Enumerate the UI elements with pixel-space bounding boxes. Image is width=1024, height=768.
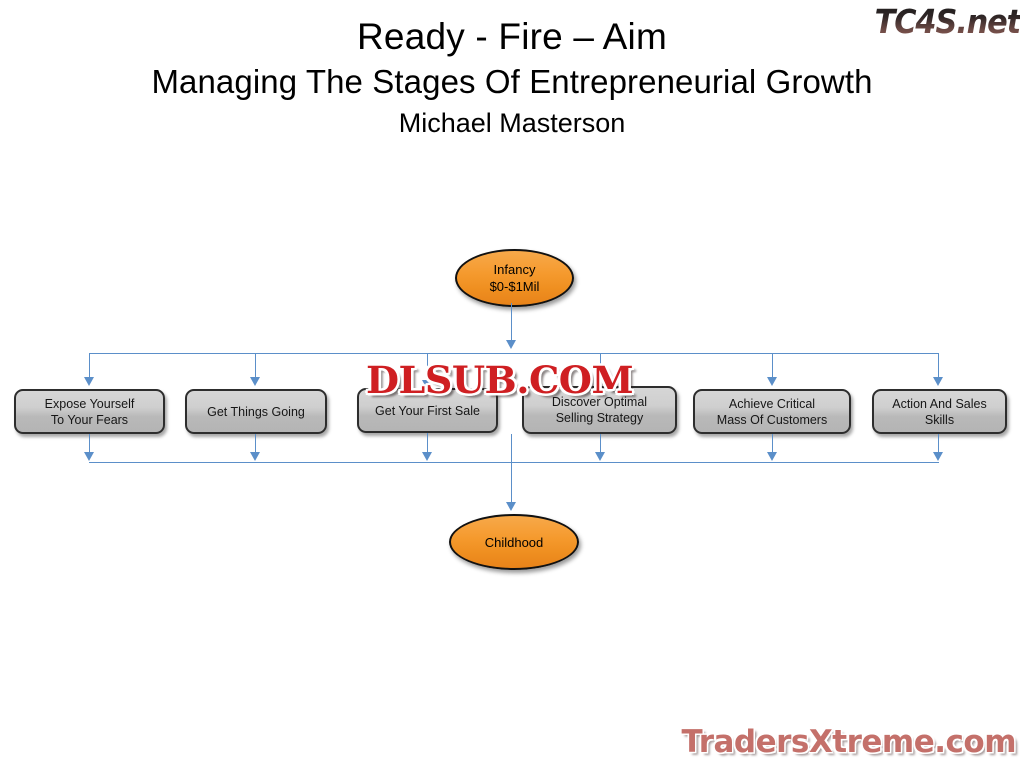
drop-stem-6: [938, 353, 939, 380]
connector-infancy-stem: [511, 303, 512, 345]
drop-arrow-4: [595, 377, 605, 386]
node-infancy-amount: $0-$1Mil: [490, 278, 540, 295]
step-box-2-line1: Get Things Going: [207, 404, 305, 420]
page-subtitle: Managing The Stages Of Entrepreneurial G…: [0, 60, 1024, 104]
collect-arrow-6: [933, 452, 943, 461]
drop-arrow-6: [933, 377, 943, 386]
collect-arrow-4: [595, 452, 605, 461]
step-box-6-line1: Action And Sales: [892, 396, 987, 412]
connector-childhood-arrowhead: [506, 502, 516, 511]
node-childhood[interactable]: Childhood: [449, 514, 579, 570]
step-box-1-line2: To Your Fears: [45, 412, 135, 428]
step-box-5[interactable]: Achieve Critical Mass Of Customers: [693, 389, 851, 434]
title-block: Ready - Fire – Aim Managing The Stages O…: [0, 14, 1024, 142]
collector-bar: [89, 462, 939, 463]
author-name: Michael Masterson: [0, 104, 1024, 142]
tc4s-logo: TC4S.net: [875, 2, 1020, 41]
connector-infancy-arrowhead: [506, 340, 516, 349]
step-box-6-line2: Skills: [892, 412, 987, 428]
step-box-5-line2: Mass Of Customers: [717, 412, 827, 428]
connector-childhood-stem: [511, 434, 512, 505]
step-box-1[interactable]: Expose Yourself To Your Fears: [14, 389, 165, 434]
slide-canvas: Ready - Fire – Aim Managing The Stages O…: [0, 0, 1024, 768]
drop-stem-1: [89, 353, 90, 380]
step-box-3[interactable]: Get Your First Sale: [357, 388, 498, 433]
drop-arrow-5: [767, 377, 777, 386]
node-infancy-label: Infancy: [494, 261, 536, 278]
step-box-2[interactable]: Get Things Going: [185, 389, 327, 434]
step-box-6[interactable]: Action And Sales Skills: [872, 389, 1007, 434]
page-title: Ready - Fire – Aim: [0, 14, 1024, 60]
node-childhood-label: Childhood: [485, 534, 544, 551]
step-box-4-line1: Discover Optimal: [552, 394, 647, 410]
drop-arrow-1: [84, 377, 94, 386]
drop-stem-2: [255, 353, 256, 380]
drop-stem-5: [772, 353, 773, 380]
drop-stem-3: [427, 353, 428, 383]
node-infancy[interactable]: Infancy $0-$1Mil: [455, 249, 574, 307]
drop-arrow-2: [250, 377, 260, 386]
collect-arrow-1: [84, 452, 94, 461]
step-box-3-line1: Get Your First Sale: [375, 403, 480, 419]
collect-arrow-2: [250, 452, 260, 461]
step-box-4[interactable]: Discover Optimal Selling Strategy: [522, 386, 677, 434]
collect-arrow-3: [422, 452, 432, 461]
tradersxtreme-logo: TradersXtreme.com: [681, 724, 1016, 760]
drop-stem-4: [600, 353, 601, 380]
step-box-5-line1: Achieve Critical: [717, 396, 827, 412]
distribution-bar: [89, 353, 939, 354]
collect-arrow-5: [767, 452, 777, 461]
step-box-4-line2: Selling Strategy: [552, 410, 647, 426]
step-box-1-line1: Expose Yourself: [45, 396, 135, 412]
